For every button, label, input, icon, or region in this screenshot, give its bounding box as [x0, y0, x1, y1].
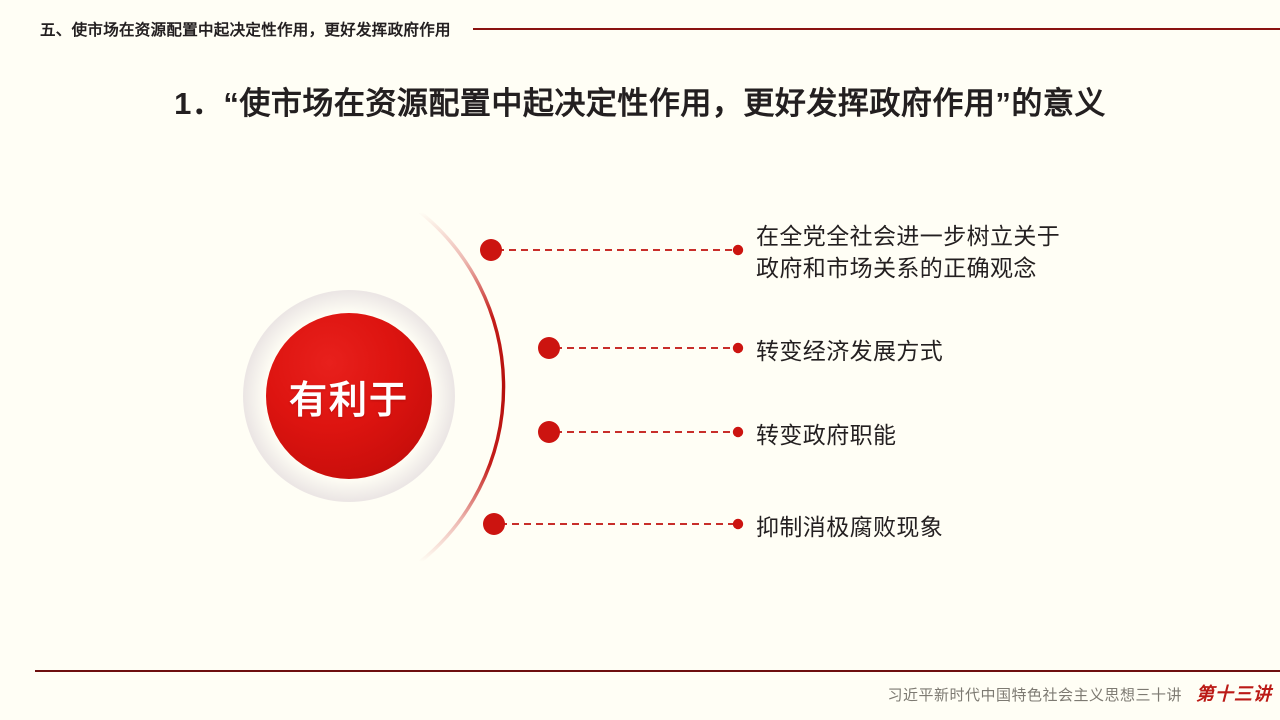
section-label: 五、使市场在资源配置中起决定性作用，更好发挥政府作用: [40, 18, 451, 40]
endpoint-node-1: [733, 245, 743, 255]
page-title: 1．“使市场在资源配置中起决定性作用，更好发挥政府作用”的意义: [0, 78, 1280, 123]
diagram-item-label-4: 抑制消极腐败现象: [756, 512, 943, 544]
radial-diagram: 有利于 在全党全社会进一步树立关于 政府和市场关系的正确观念 转变经济发展方式 …: [0, 150, 1280, 620]
footer-divider: [35, 670, 1280, 672]
arc-node-3: [538, 421, 560, 443]
diagram-connectors: [0, 150, 1280, 620]
endpoint-node-4: [733, 519, 743, 529]
footer-text-group: 习近平新时代中国特色社会主义思想三十讲 第十三讲: [887, 680, 1272, 706]
arc-node-4: [483, 513, 505, 535]
header-divider: [473, 28, 1280, 30]
slide-footer: 习近平新时代中国特色社会主义思想三十讲 第十三讲: [0, 662, 1280, 720]
arc-node-2: [538, 337, 560, 359]
diagram-item-label-3: 转变政府职能: [756, 420, 896, 452]
endpoint-node-3: [733, 427, 743, 437]
hub-circle: 有利于: [266, 313, 432, 479]
slide-header: 五、使市场在资源配置中起决定性作用，更好发挥政府作用: [0, 14, 1280, 44]
hub-label: 有利于: [289, 369, 409, 424]
footer-series-title: 习近平新时代中国特色社会主义思想三十讲: [887, 684, 1182, 705]
diagram-item-label-1: 在全党全社会进一步树立关于 政府和市场关系的正确观念: [756, 221, 1060, 284]
footer-lecture-label: 第十三讲: [1196, 680, 1272, 706]
diagram-item-label-2: 转变经济发展方式: [756, 336, 943, 368]
arc-node-1: [480, 239, 502, 261]
endpoint-node-2: [733, 343, 743, 353]
